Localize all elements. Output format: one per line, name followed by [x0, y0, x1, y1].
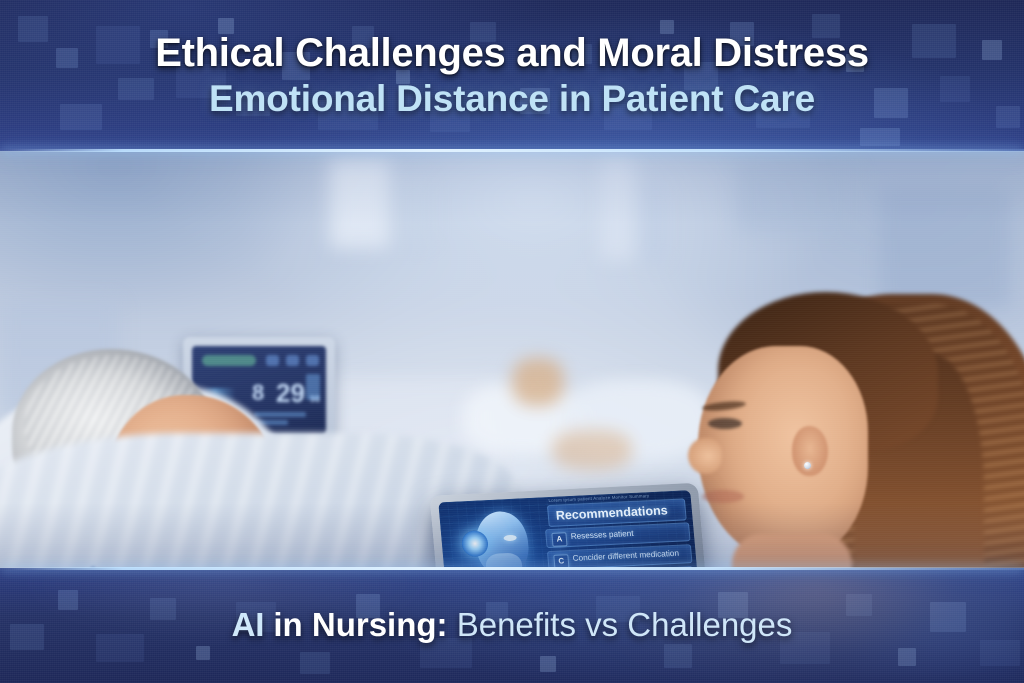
- footer-caption-group: AI in Nursing: Benefits vs Challenges: [0, 568, 1024, 683]
- nurse-eye: [708, 418, 742, 429]
- nurse-face: [698, 346, 868, 561]
- footer-caption: AI in Nursing: Benefits vs Challenges: [232, 607, 793, 643]
- nurse-earring: [804, 462, 811, 469]
- caption-light-text: Benefits vs Challenges: [448, 606, 793, 643]
- tablet-device[interactable]: Lorem ipsum patient Analyze Monitor Summ…: [430, 483, 713, 570]
- nurse-ear: [792, 426, 828, 476]
- caption-strong-text: in Nursing:: [264, 606, 447, 643]
- header-title-group: Ethical Challenges and Moral Distress Em…: [0, 0, 1024, 151]
- page-subtitle: Emotional Distance in Patient Care: [209, 80, 815, 119]
- header-divider-glow: [0, 149, 1024, 152]
- recommendation-1-label: Resesses patient: [570, 529, 634, 541]
- page-title: Ethical Challenges and Moral Distress: [155, 32, 869, 74]
- nurse-nose: [688, 438, 722, 474]
- recommendations-title: Recommendations: [555, 503, 668, 522]
- nurse-lips: [702, 490, 744, 503]
- tablet-screen[interactable]: Lorem ipsum patient Analyze Monitor Summ…: [438, 490, 703, 570]
- scene-photo: 8 29 98: [0, 148, 1024, 570]
- ai-robot-avatar: [451, 505, 555, 570]
- footer-divider-glow: [0, 567, 1024, 570]
- caption-ai-text: AI: [232, 606, 265, 643]
- footer-band: AI in Nursing: Benefits vs Challenges: [0, 568, 1024, 683]
- nurse-neck: [732, 534, 852, 570]
- header-band: Ethical Challenges and Moral Distress Em…: [0, 0, 1024, 151]
- recommendation-1-icon: A: [551, 532, 567, 547]
- recommendation-2-label: Concider different medication: [572, 549, 679, 563]
- poster-canvas: Ethical Challenges and Moral Distress Em…: [0, 0, 1024, 683]
- tablet-bezel: Lorem ipsum patient Analyze Monitor Summ…: [430, 483, 713, 570]
